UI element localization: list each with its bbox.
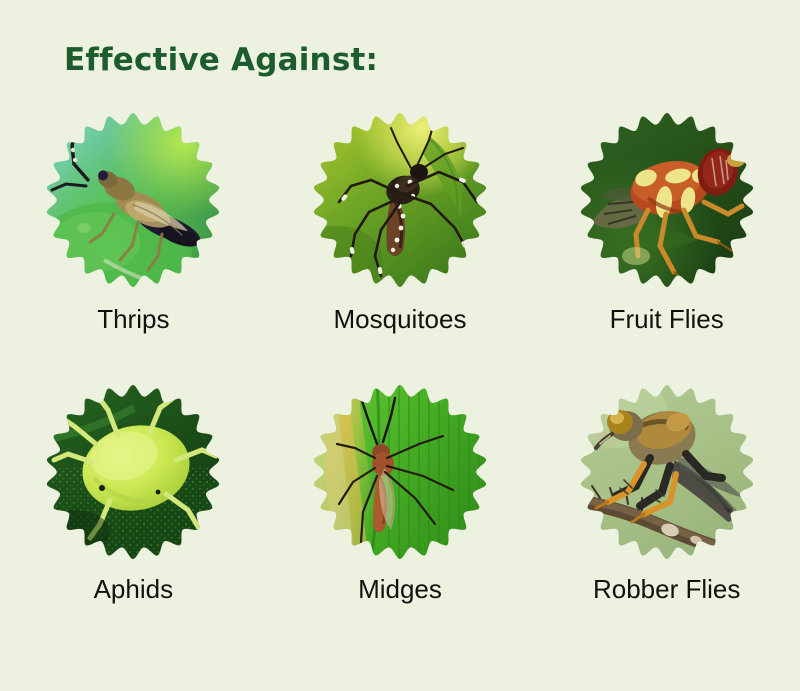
insect-label: Mosquitoes — [334, 306, 467, 332]
mosquito-photo[interactable] — [311, 110, 489, 290]
insect-card-thrips[interactable]: Thrips — [0, 110, 267, 382]
midge-photo[interactable] — [311, 382, 489, 562]
thrips-photo[interactable] — [44, 110, 222, 290]
insect-card-robber-flies[interactable]: Robber Flies — [533, 382, 800, 652]
fruit-fly-photo[interactable] — [578, 110, 756, 290]
aphid-photo[interactable] — [44, 382, 222, 562]
insect-label: Midges — [358, 576, 442, 602]
robber-fly-photo[interactable] — [578, 382, 756, 562]
insect-grid: Thrips — [0, 110, 800, 652]
insect-label: Thrips — [97, 306, 169, 332]
insect-label: Aphids — [94, 576, 174, 602]
insect-card-aphids[interactable]: Aphids — [0, 382, 267, 652]
insect-card-midges[interactable]: Midges — [267, 382, 534, 652]
effective-against-panel: Effective Against: — [0, 0, 800, 691]
insect-label: Robber Flies — [593, 576, 740, 602]
page-title: Effective Against: — [64, 42, 378, 78]
insect-card-fruit-flies[interactable]: Fruit Flies — [533, 110, 800, 382]
insect-card-mosquitoes[interactable]: Mosquitoes — [267, 110, 534, 382]
insect-label: Fruit Flies — [610, 306, 724, 332]
